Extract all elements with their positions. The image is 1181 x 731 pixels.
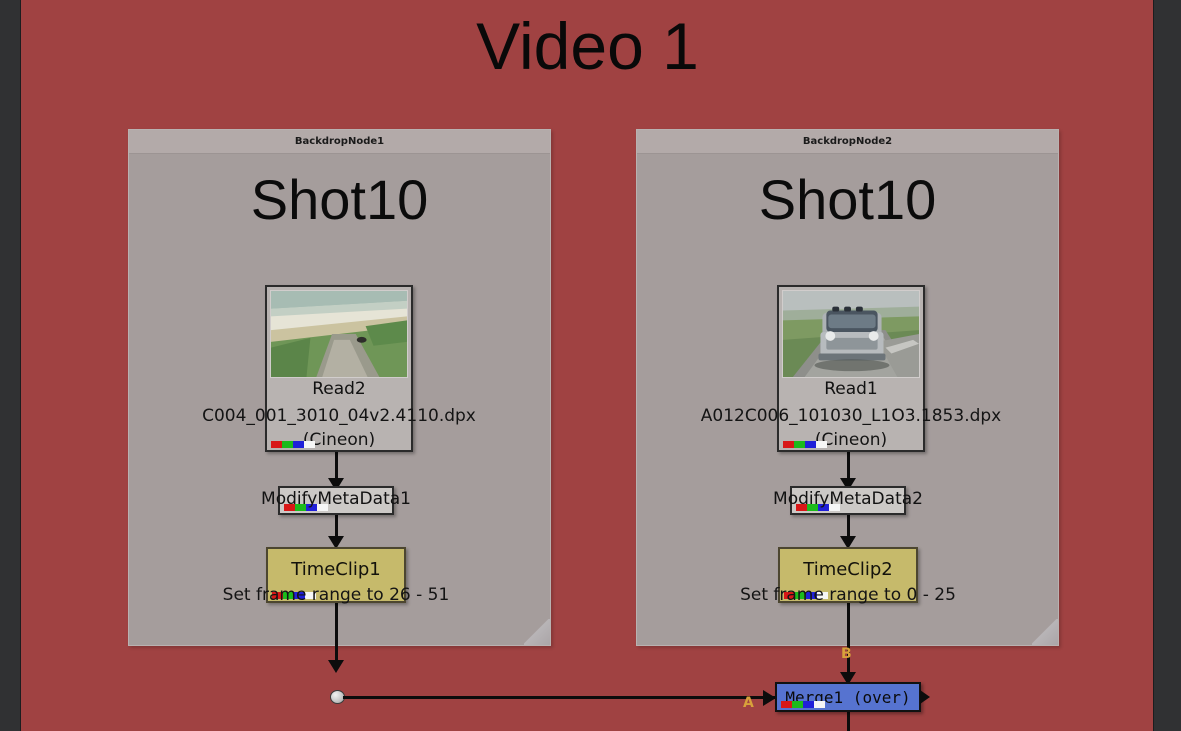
read2-thumbnail bbox=[270, 290, 408, 378]
channel-alpha-swatch bbox=[814, 701, 825, 708]
channel-red-swatch bbox=[271, 441, 282, 448]
channel-red-swatch bbox=[284, 504, 295, 511]
timeclip2-name: TimeClip2 bbox=[780, 559, 916, 580]
timeclip1-channel-indicator bbox=[272, 592, 316, 599]
node-timeclip1[interactable]: TimeClip1 bbox=[266, 547, 406, 603]
channel-blue-swatch bbox=[806, 592, 817, 599]
wire-timeclip2-to-merge1-b bbox=[847, 603, 850, 681]
channel-green-swatch bbox=[792, 701, 803, 708]
wire-merge1-output bbox=[847, 712, 850, 731]
backdrop-node-2-label: Shot10 bbox=[637, 172, 1058, 228]
channel-green-swatch bbox=[795, 592, 806, 599]
channel-blue-swatch bbox=[306, 504, 317, 511]
dag-canvas[interactable]: Video 1 BackdropNode1 Shot10 BackdropNod… bbox=[21, 0, 1154, 731]
window-left-border bbox=[0, 0, 21, 731]
channel-red-swatch bbox=[272, 592, 283, 599]
channel-green-swatch bbox=[794, 441, 805, 448]
channel-blue-swatch bbox=[803, 701, 814, 708]
backdrop-node-1-resize-handle[interactable] bbox=[524, 619, 550, 645]
wire-arrow-dot-in bbox=[328, 660, 344, 673]
backdrop-node-2-header[interactable]: BackdropNode2 bbox=[637, 130, 1058, 154]
read1-name: Read1 bbox=[779, 379, 923, 399]
merge1-port-a-label: A bbox=[743, 695, 754, 711]
window-right-hairline bbox=[1153, 0, 1154, 731]
channel-blue-swatch bbox=[805, 441, 816, 448]
node-merge1[interactable]: Merge1 (over) bbox=[775, 682, 921, 712]
window-right-border bbox=[1154, 0, 1181, 731]
node-timeclip2[interactable]: TimeClip2 bbox=[778, 547, 918, 603]
channel-blue-swatch bbox=[293, 441, 304, 448]
node-read1[interactable]: Read1 A012C006_101030_L1O3.1853.dpx (Cin… bbox=[777, 285, 925, 452]
merge1-channel-indicator bbox=[781, 701, 825, 708]
wire-dot-to-merge1-a bbox=[343, 696, 776, 699]
channel-alpha-swatch bbox=[304, 441, 315, 448]
channel-alpha-swatch bbox=[317, 504, 328, 511]
backdrop-node-1-label: Shot10 bbox=[129, 172, 550, 228]
read2-name: Read2 bbox=[267, 379, 411, 399]
channel-red-swatch bbox=[796, 504, 807, 511]
node-modifymetadata1[interactable] bbox=[278, 486, 394, 515]
channel-alpha-swatch bbox=[817, 592, 828, 599]
node-read2[interactable]: Read2 C004_001_3010_04v2.4110.dpx (Cineo… bbox=[265, 285, 413, 452]
backdrop-node-2-resize-handle[interactable] bbox=[1032, 619, 1058, 645]
modifymetadata2-channel-indicator bbox=[796, 504, 840, 511]
read1-thumbnail bbox=[782, 290, 920, 378]
channel-blue-swatch bbox=[818, 504, 829, 511]
modifymetadata1-channel-indicator bbox=[284, 504, 328, 511]
channel-green-swatch bbox=[282, 441, 293, 448]
channel-red-swatch bbox=[784, 592, 795, 599]
channel-blue-swatch bbox=[294, 592, 305, 599]
channel-green-swatch bbox=[807, 504, 818, 511]
timeclip1-name: TimeClip1 bbox=[268, 559, 404, 580]
channel-red-swatch bbox=[783, 441, 794, 448]
page-title: Video 1 bbox=[21, 13, 1154, 79]
merge1-port-b-label: B bbox=[841, 646, 852, 662]
channel-alpha-swatch bbox=[829, 504, 840, 511]
merge1-mask-input-tab[interactable] bbox=[920, 690, 930, 704]
window-left-hairline bbox=[20, 0, 21, 731]
read1-channel-indicator bbox=[783, 441, 827, 448]
channel-green-swatch bbox=[295, 504, 306, 511]
read2-channel-indicator bbox=[271, 441, 315, 448]
channel-alpha-swatch bbox=[816, 441, 827, 448]
node-modifymetadata2[interactable] bbox=[790, 486, 906, 515]
timeclip2-channel-indicator bbox=[784, 592, 828, 599]
channel-red-swatch bbox=[781, 701, 792, 708]
read1-thumbnail-image bbox=[783, 291, 919, 377]
read2-thumbnail-image bbox=[271, 291, 407, 377]
node-graph-window: Video 1 BackdropNode1 Shot10 BackdropNod… bbox=[0, 0, 1181, 731]
wire-timeclip1-to-dot bbox=[335, 603, 338, 667]
backdrop-node-1-header[interactable]: BackdropNode1 bbox=[129, 130, 550, 154]
channel-green-swatch bbox=[283, 592, 294, 599]
channel-alpha-swatch bbox=[305, 592, 316, 599]
